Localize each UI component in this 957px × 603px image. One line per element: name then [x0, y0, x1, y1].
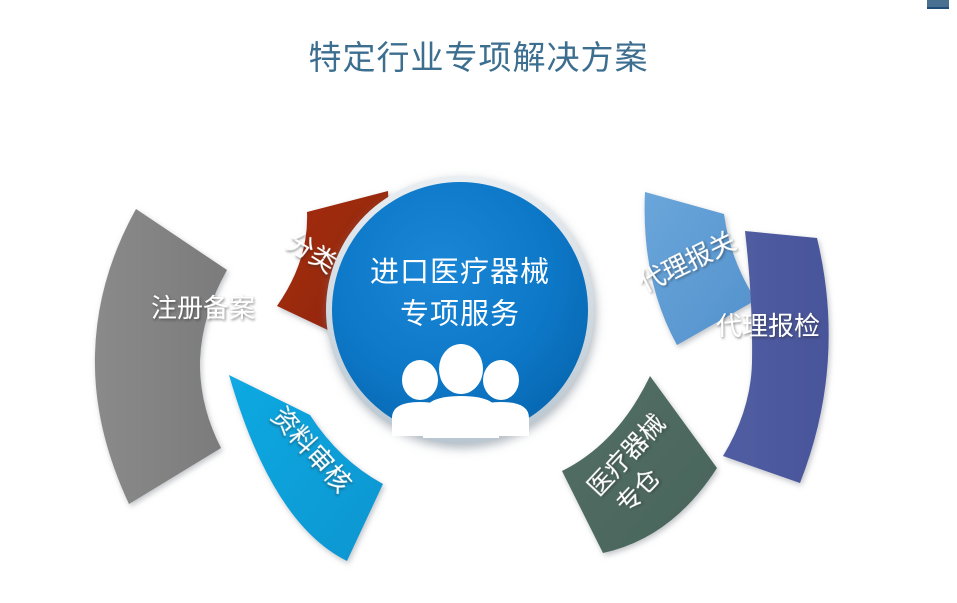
slide-canvas: 特定行业专项解决方案 [0, 0, 957, 603]
petal-ziliao-shape[interactable] [229, 375, 383, 561]
petal-zhuce-label: 注册备案 [151, 293, 255, 323]
petal-zhuancang[interactable]: 医疗器械 专仓 [562, 376, 717, 553]
petal-zhuce-shape[interactable] [95, 209, 227, 504]
petal-zhuancang-shape[interactable] [562, 376, 717, 553]
corner-artifact [927, 0, 949, 9]
hub[interactable]: 进口医疗器械 专项服务 [326, 176, 594, 444]
petal-baojian-label: 代理报检 [716, 311, 820, 341]
petal-zhuce[interactable]: 注册备案 [95, 209, 255, 504]
hub-title-line1: 进口医疗器械 [370, 256, 550, 289]
radial-petal-diagram: 分类界定 注册备案 资料审核 代理报关 代理报检 医疗器械 专仓 [0, 88, 957, 603]
hub-title-line2: 专项服务 [400, 298, 520, 331]
petal-ziliao[interactable]: 资料审核 [229, 375, 383, 561]
page-title: 特定行业专项解决方案 [0, 38, 957, 78]
